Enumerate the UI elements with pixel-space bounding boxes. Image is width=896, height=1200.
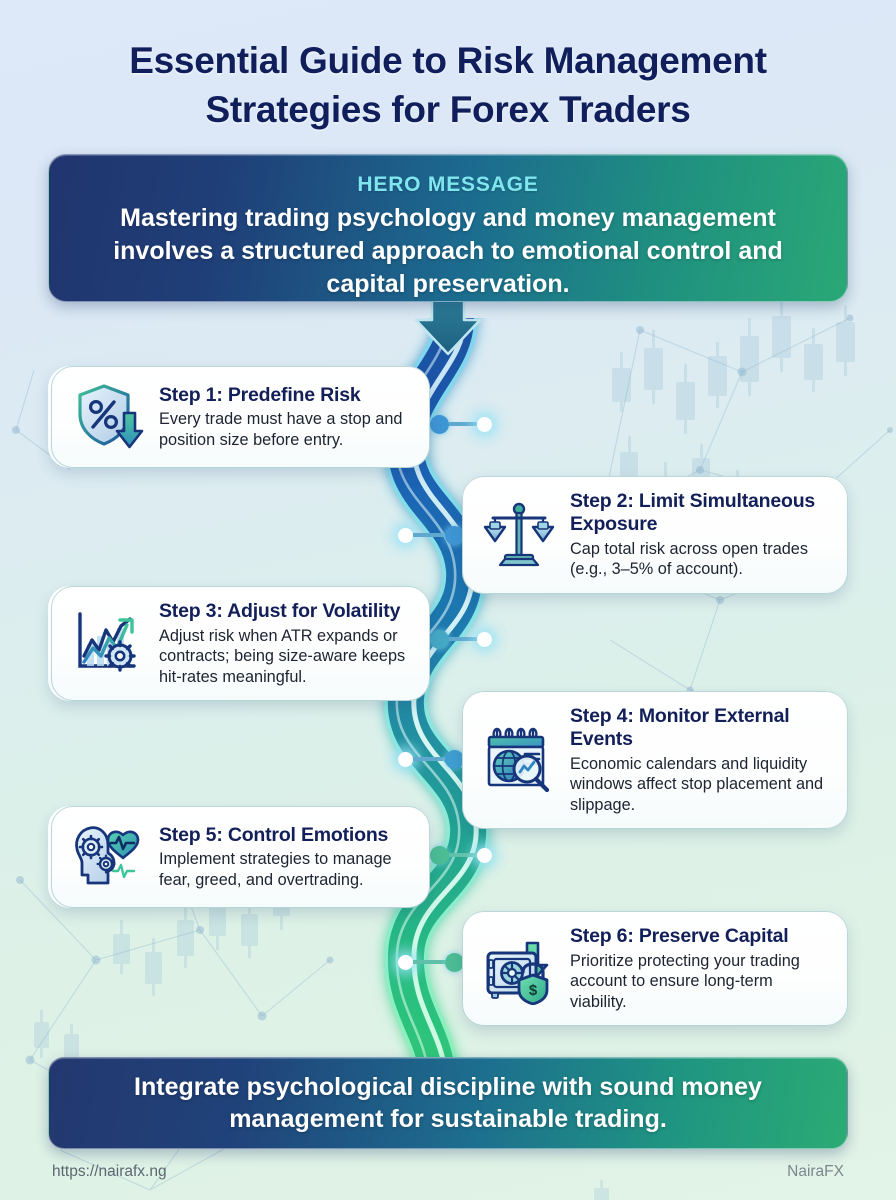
step-card-body: Step 6: Preserve Capital Prioritize prot… xyxy=(570,925,828,1012)
hero-banner: HERO MESSAGE Mastering trading psycholog… xyxy=(48,154,848,302)
down-arrow-icon xyxy=(412,298,484,356)
step-title: Step 4: Monitor External Events xyxy=(570,705,828,751)
shield-percent-down-arrow-icon xyxy=(71,380,145,454)
step-title: Step 5: Control Emotions xyxy=(159,824,410,847)
step-description: Adjust risk when ATR expands or contract… xyxy=(159,626,410,688)
step-description: Every trade must have a stop and positio… xyxy=(159,409,410,450)
connector-line xyxy=(449,853,477,857)
hero-kicker: HERO MESSAGE xyxy=(79,173,817,197)
connector-line xyxy=(449,637,477,641)
page-title: Essential Guide to Risk Management Strat… xyxy=(48,36,848,134)
connector-line xyxy=(413,757,445,761)
step-card-2[interactable]: Step 2: Limit Simultaneous Exposure Cap … xyxy=(462,476,848,594)
connector-glow xyxy=(398,528,413,543)
step-description: Economic calendars and liquidity windows… xyxy=(570,754,828,816)
step-title: Step 1: Predefine Risk xyxy=(159,384,410,407)
balance-scale-icon xyxy=(482,498,556,572)
infographic-root: Essential Guide to Risk Management Strat… xyxy=(0,0,896,1200)
footer-banner: Integrate psychological discipline with … xyxy=(48,1057,848,1149)
brand-name: NairaFX xyxy=(787,1163,844,1181)
head-gears-heartbeat-icon xyxy=(71,820,145,894)
step-card-1[interactable]: Step 1: Predefine Risk Every trade must … xyxy=(48,366,430,468)
connector-line xyxy=(449,422,477,426)
safe-lock-uparrow-icon: $ xyxy=(482,932,556,1006)
step-title: Step 6: Preserve Capital xyxy=(570,925,828,948)
connector-step-1 xyxy=(430,417,492,431)
calendar-globe-magnifier-icon xyxy=(482,723,556,797)
step-card-body: Step 5: Control Emotions Implement strat… xyxy=(159,824,410,891)
svg-text:$: $ xyxy=(529,982,538,999)
step-card-4[interactable]: Step 4: Monitor External Events Economic… xyxy=(462,691,848,829)
connector-glow xyxy=(477,632,492,647)
step-title: Step 3: Adjust for Volatility xyxy=(159,600,410,623)
hero-message: Mastering trading psychology and money m… xyxy=(79,202,817,300)
connector-knob xyxy=(430,846,449,865)
connector-step-3 xyxy=(430,632,492,646)
step-description: Cap total risk across open trades (e.g.,… xyxy=(570,539,828,580)
step-description: Prioritize protecting your trading accou… xyxy=(570,951,828,1013)
volatility-chart-gear-icon xyxy=(71,607,145,681)
connector-step-6 xyxy=(398,955,464,969)
connector-knob xyxy=(430,630,449,649)
step-description: Implement strategies to manage fear, gre… xyxy=(159,849,410,890)
step-card-body: Step 3: Adjust for Volatility Adjust ris… xyxy=(159,600,410,687)
footer-banner-text: Integrate psychological discipline with … xyxy=(49,1071,847,1136)
connector-line xyxy=(413,533,445,537)
connector-line xyxy=(413,960,445,964)
connector-glow xyxy=(477,417,492,432)
step-card-body: Step 4: Monitor External Events Economic… xyxy=(570,705,828,815)
footer-meta: https://nairafx.ng NairaFX xyxy=(52,1163,844,1181)
site-url[interactable]: https://nairafx.ng xyxy=(52,1163,167,1181)
connector-glow xyxy=(398,955,413,970)
step-card-5[interactable]: Step 5: Control Emotions Implement strat… xyxy=(48,806,430,908)
connector-step-5 xyxy=(430,848,492,862)
step-card-6[interactable]: $ Step 6: Preserve Capital Prioritize pr… xyxy=(462,911,848,1026)
step-title: Step 2: Limit Simultaneous Exposure xyxy=(570,490,828,536)
connector-step-4 xyxy=(398,752,464,766)
connector-glow xyxy=(398,752,413,767)
step-card-body: Step 1: Predefine Risk Every trade must … xyxy=(159,384,410,451)
connector-glow xyxy=(477,848,492,863)
step-card-3[interactable]: Step 3: Adjust for Volatility Adjust ris… xyxy=(48,586,430,701)
connector-knob xyxy=(430,415,449,434)
connector-step-2 xyxy=(398,528,464,542)
step-card-body: Step 2: Limit Simultaneous Exposure Cap … xyxy=(570,490,828,580)
